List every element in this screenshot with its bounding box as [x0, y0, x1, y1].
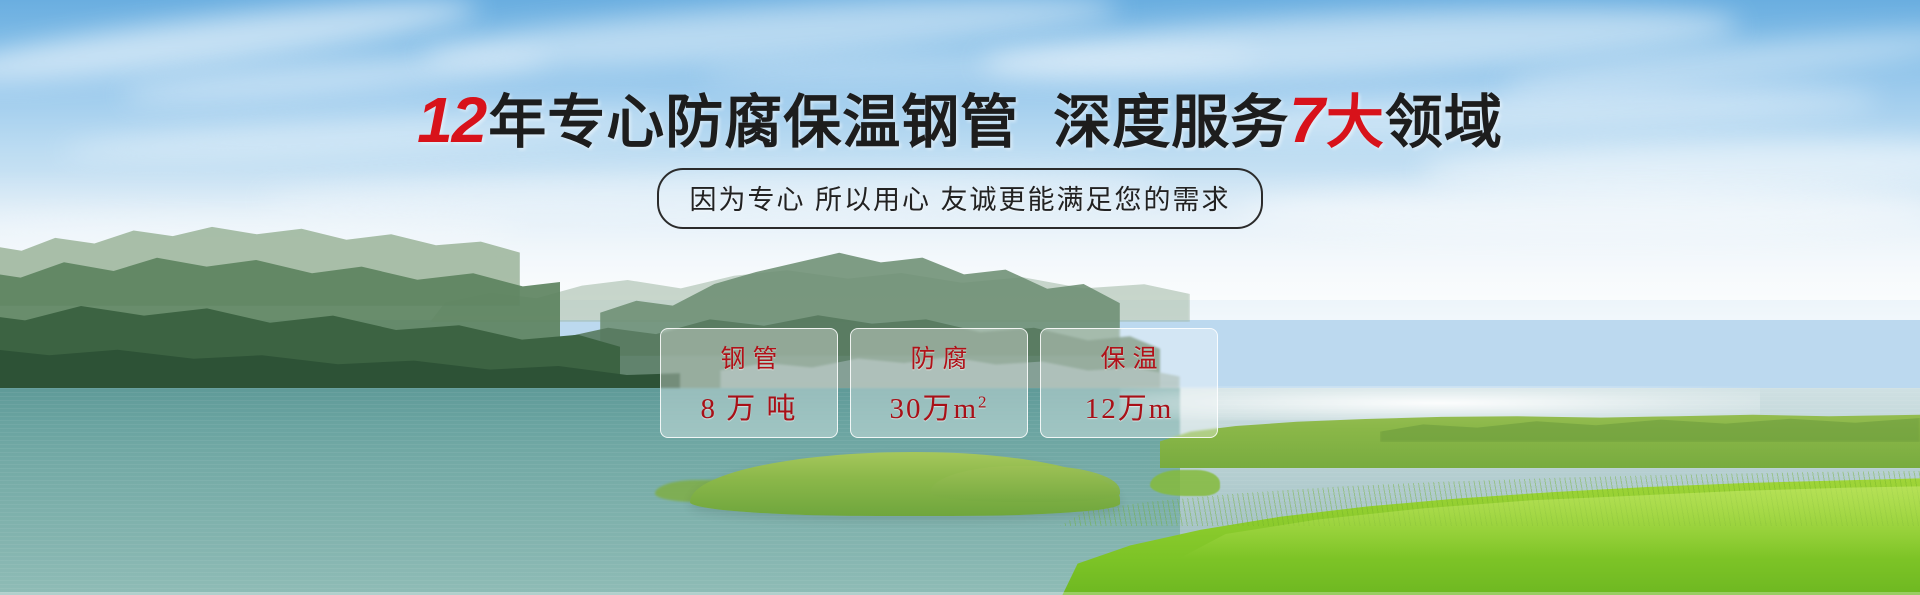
stat-card-anticorrosion[interactable]: 防腐 30万m2: [850, 328, 1028, 438]
headline-part-two: 深度服务: [1053, 90, 1289, 155]
headline-part-three: 领域: [1385, 90, 1503, 155]
cloud-wisp: [419, 0, 1121, 82]
stat-card-label: 钢管: [713, 339, 784, 375]
banner-subtitle-wrap: 因为专心 所以用心 友诚更能满足您的需求: [0, 168, 1920, 229]
headline-da: 大: [1326, 90, 1385, 155]
stat-card-value: 12万m: [1085, 385, 1174, 427]
headline-years-number: 12: [417, 84, 488, 156]
stat-card-group: 钢管 8 万 吨 防腐 30万m2 保温 12万m: [660, 328, 1218, 438]
stat-card-insulation[interactable]: 保温 12万m: [1040, 328, 1218, 438]
stat-card-value-superscript: 2: [978, 392, 989, 411]
banner-headline: 12年专心防腐保温钢管深度服务7大领域: [0, 88, 1920, 152]
cloud-wisp: [700, 42, 1261, 88]
cloud-wisp: [0, 0, 481, 97]
banner-subtitle: 因为专心 所以用心 友诚更能满足您的需求: [657, 168, 1262, 229]
headline-part-one: 年专心防腐保温钢管: [488, 90, 1019, 155]
stat-card-value: 8 万 吨: [700, 385, 797, 427]
marsh-tuft: [1150, 470, 1220, 496]
stat-card-steel-pipe[interactable]: 钢管 8 万 吨: [660, 328, 838, 438]
headline-fields-number: 7: [1289, 84, 1326, 156]
stat-card-value: 30万m2: [889, 385, 988, 427]
cloud-wisp: [979, 0, 1741, 94]
hero-banner: 12年专心防腐保温钢管深度服务7大领域 因为专心 所以用心 友诚更能满足您的需求…: [0, 0, 1920, 595]
stat-card-label: 防腐: [903, 339, 974, 375]
forest-ridge-left: [0, 282, 620, 402]
stat-card-label: 保温: [1093, 339, 1164, 375]
